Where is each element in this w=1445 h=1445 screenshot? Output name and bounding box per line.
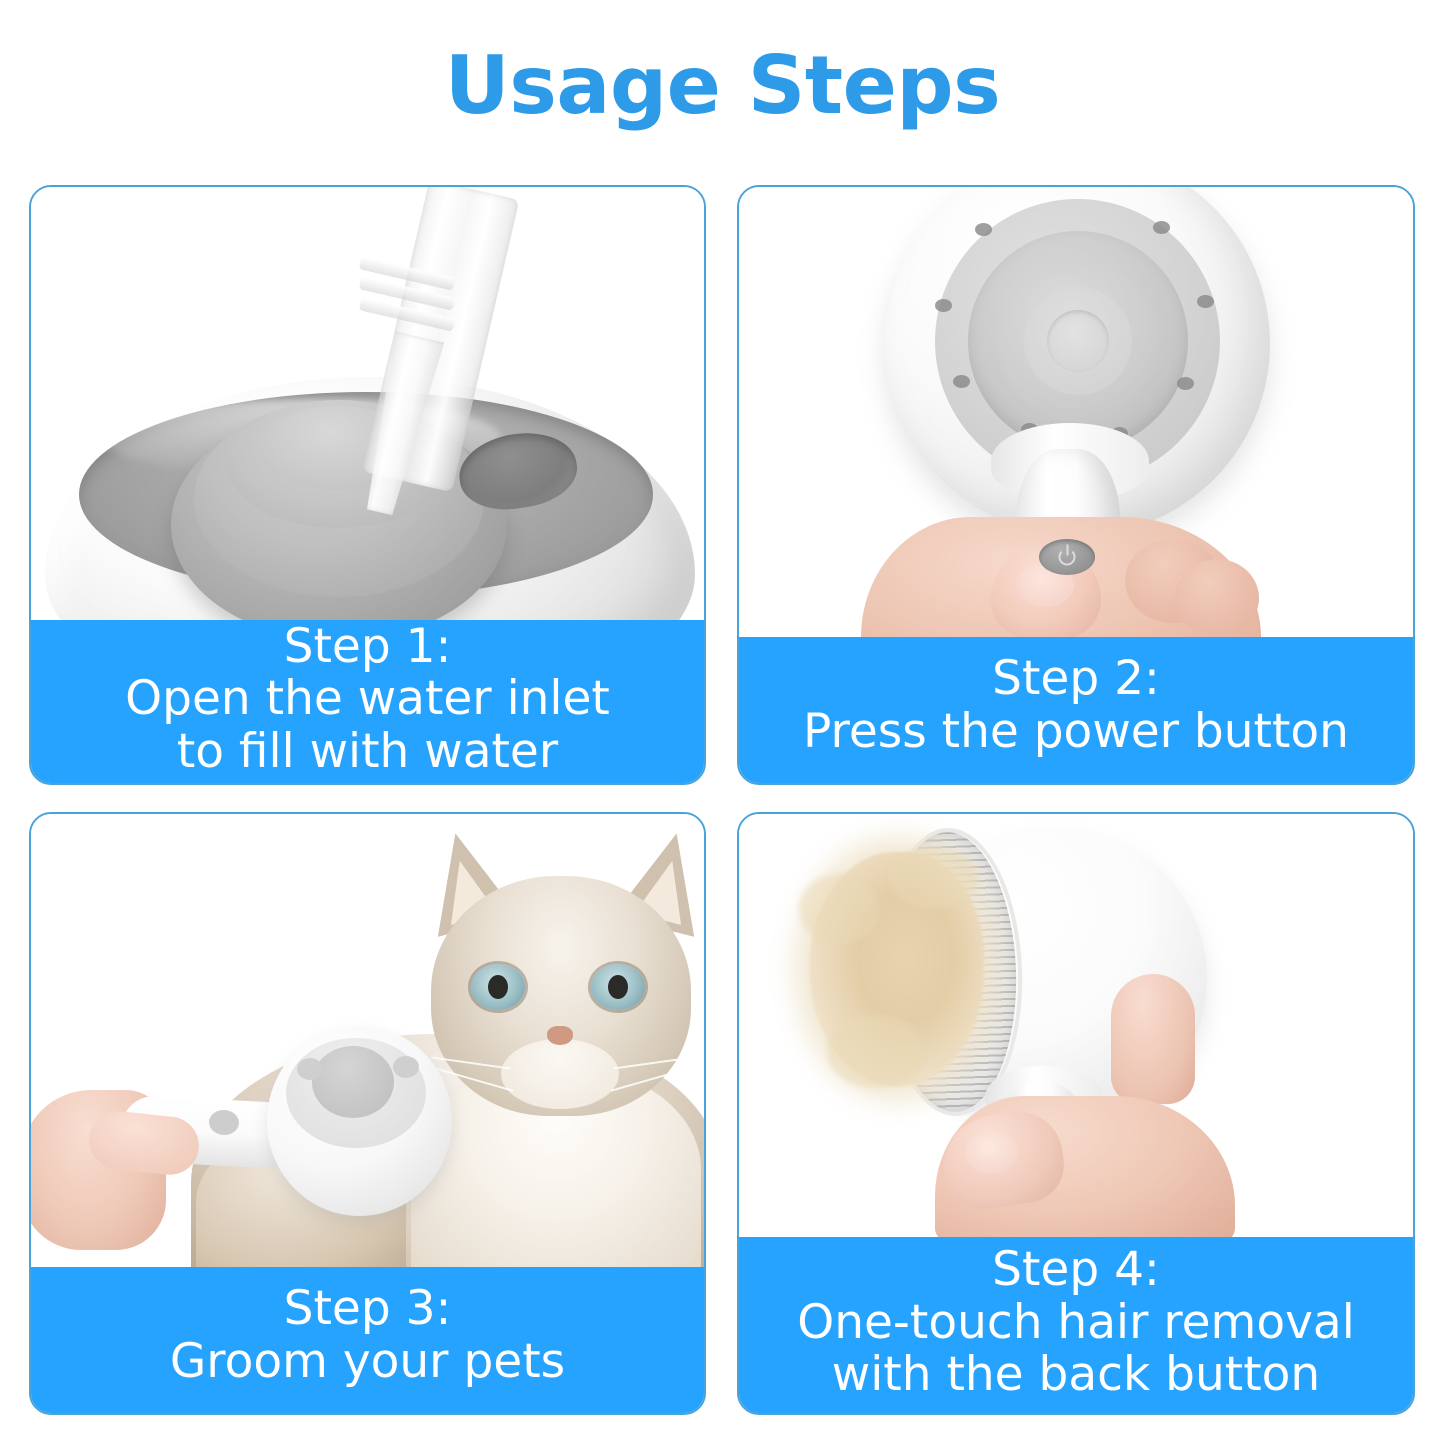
bristle-port-dot	[975, 223, 992, 236]
bristle-port-dot	[1177, 377, 1194, 390]
dome-center-shape	[312, 1046, 394, 1118]
step-1-text-line-2: to fill with water	[177, 726, 558, 779]
cat-pupil-right	[608, 975, 628, 999]
fingertip-shape	[1111, 974, 1195, 1104]
pet-hair-wisp	[889, 848, 979, 908]
step-1-caption: Step 1: Open the water inlet to fill wit…	[29, 620, 706, 785]
step-3-text-line-1: Groom your pets	[170, 1336, 565, 1389]
step-2-text-line-1: Press the power button	[803, 706, 1349, 759]
step-3-caption: Step 3: Groom your pets	[29, 1267, 706, 1415]
cat-muzzle-shape	[501, 1039, 619, 1109]
step-card-4: Step 4: One-touch hair removal with the …	[737, 812, 1415, 1415]
step-1-text-line-1: Open the water inlet	[125, 673, 610, 726]
step-4-image	[739, 814, 1413, 1239]
bristle-port-dot	[935, 299, 952, 312]
step-card-1: Step 1: Open the water inlet to fill wit…	[29, 185, 706, 785]
step-1-image	[31, 187, 704, 624]
step-2-label: Step 2:	[992, 653, 1160, 706]
thumbnail-shape	[965, 1132, 1019, 1174]
step-4-caption: Step 4: One-touch hair removal with the …	[737, 1237, 1415, 1415]
step-3-image	[31, 814, 704, 1269]
step-2-image	[739, 187, 1413, 637]
page-title: Usage Steps	[0, 46, 1445, 126]
bristle-port-dot	[393, 1056, 419, 1078]
cat-nose-shape	[547, 1026, 573, 1045]
bristle-port-dot	[297, 1058, 323, 1080]
step-4-label: Step 4:	[992, 1244, 1160, 1297]
step-4-text-line-1: One-touch hair removal	[797, 1297, 1355, 1350]
bristle-port-dot	[1197, 295, 1214, 308]
power-button-icon[interactable]	[1039, 539, 1095, 575]
cat-pupil-left	[488, 975, 508, 999]
pet-hair-wisp	[827, 1014, 923, 1088]
step-1-label: Step 1:	[284, 621, 452, 674]
step-card-3: Step 3: Groom your pets	[29, 812, 706, 1415]
step-4-text-line-2: with the back button	[832, 1349, 1320, 1402]
bristle-port-dot	[1153, 221, 1170, 234]
step-2-caption: Step 2: Press the power button	[737, 637, 1415, 785]
bristle-port-dot	[953, 375, 970, 388]
usage-steps-infographic: Usage Steps Step 1: Open the water inlet…	[0, 0, 1445, 1445]
dome-center-shape	[1047, 310, 1109, 372]
step-card-2: Step 2: Press the power button	[737, 185, 1415, 785]
pet-hair-wisp	[799, 874, 879, 944]
step-3-label: Step 3:	[284, 1283, 452, 1336]
knuckle-shape	[1175, 559, 1259, 637]
